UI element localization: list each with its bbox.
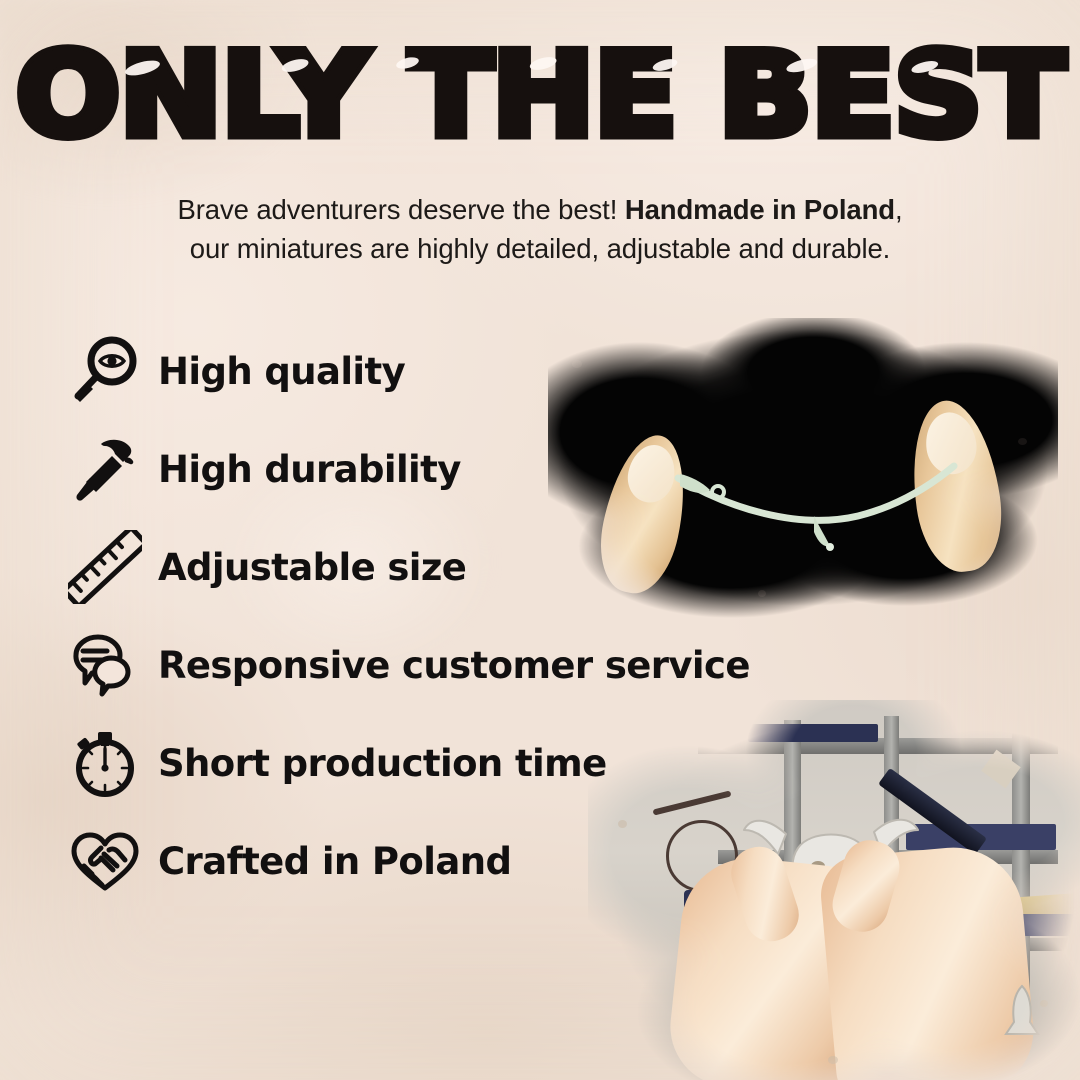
edge-speck	[828, 1056, 838, 1064]
poster-canvas: ONLY THE BEST Brave adventurers deserve …	[0, 0, 1080, 1080]
stopwatch-icon	[62, 720, 148, 806]
feature-label: High durability	[158, 448, 461, 491]
page-title-text: ONLY THE BEST	[16, 38, 1064, 154]
page-title: ONLY THE BEST	[0, 38, 1080, 154]
subtitle-line-1: Brave adventurers deserve the best! Hand…	[0, 190, 1080, 229]
subtitle: Brave adventurers deserve the best! Hand…	[0, 190, 1080, 268]
parts-tray	[748, 724, 878, 742]
magnifier-eye-icon	[62, 328, 148, 414]
small-miniature	[1000, 982, 1044, 1042]
ruler-icon	[62, 524, 148, 610]
feature-label: Responsive customer service	[158, 644, 750, 687]
edge-speck	[1018, 438, 1027, 445]
edge-speck	[572, 360, 582, 368]
subtitle-highlight: Handmade in Poland	[625, 194, 895, 225]
feature-label: Adjustable size	[158, 546, 466, 589]
edge-speck	[592, 344, 599, 350]
photo-torn-edge	[588, 700, 1080, 1080]
speech-bubbles-icon	[62, 622, 148, 708]
edge-speck	[618, 820, 627, 828]
feature-label: High quality	[158, 350, 405, 393]
edge-speck	[758, 590, 766, 597]
workshop-crafting-photo	[588, 700, 1080, 1080]
hammer-icon	[62, 426, 148, 512]
photo-torn-edge	[548, 318, 1058, 618]
subtitle-line-2: our miniatures are highly detailed, adju…	[0, 229, 1080, 268]
flexible-miniature	[668, 446, 968, 556]
subtitle-line-1-plain: Brave adventurers deserve the best!	[177, 194, 624, 225]
flexible-miniature-photo	[548, 318, 1058, 618]
feature-label: Short production time	[158, 742, 607, 785]
handshake-heart-icon	[62, 818, 148, 904]
subtitle-line-1-tail: ,	[895, 194, 903, 225]
feature-label: Crafted in Poland	[158, 840, 511, 883]
edge-speck	[1040, 1000, 1048, 1007]
